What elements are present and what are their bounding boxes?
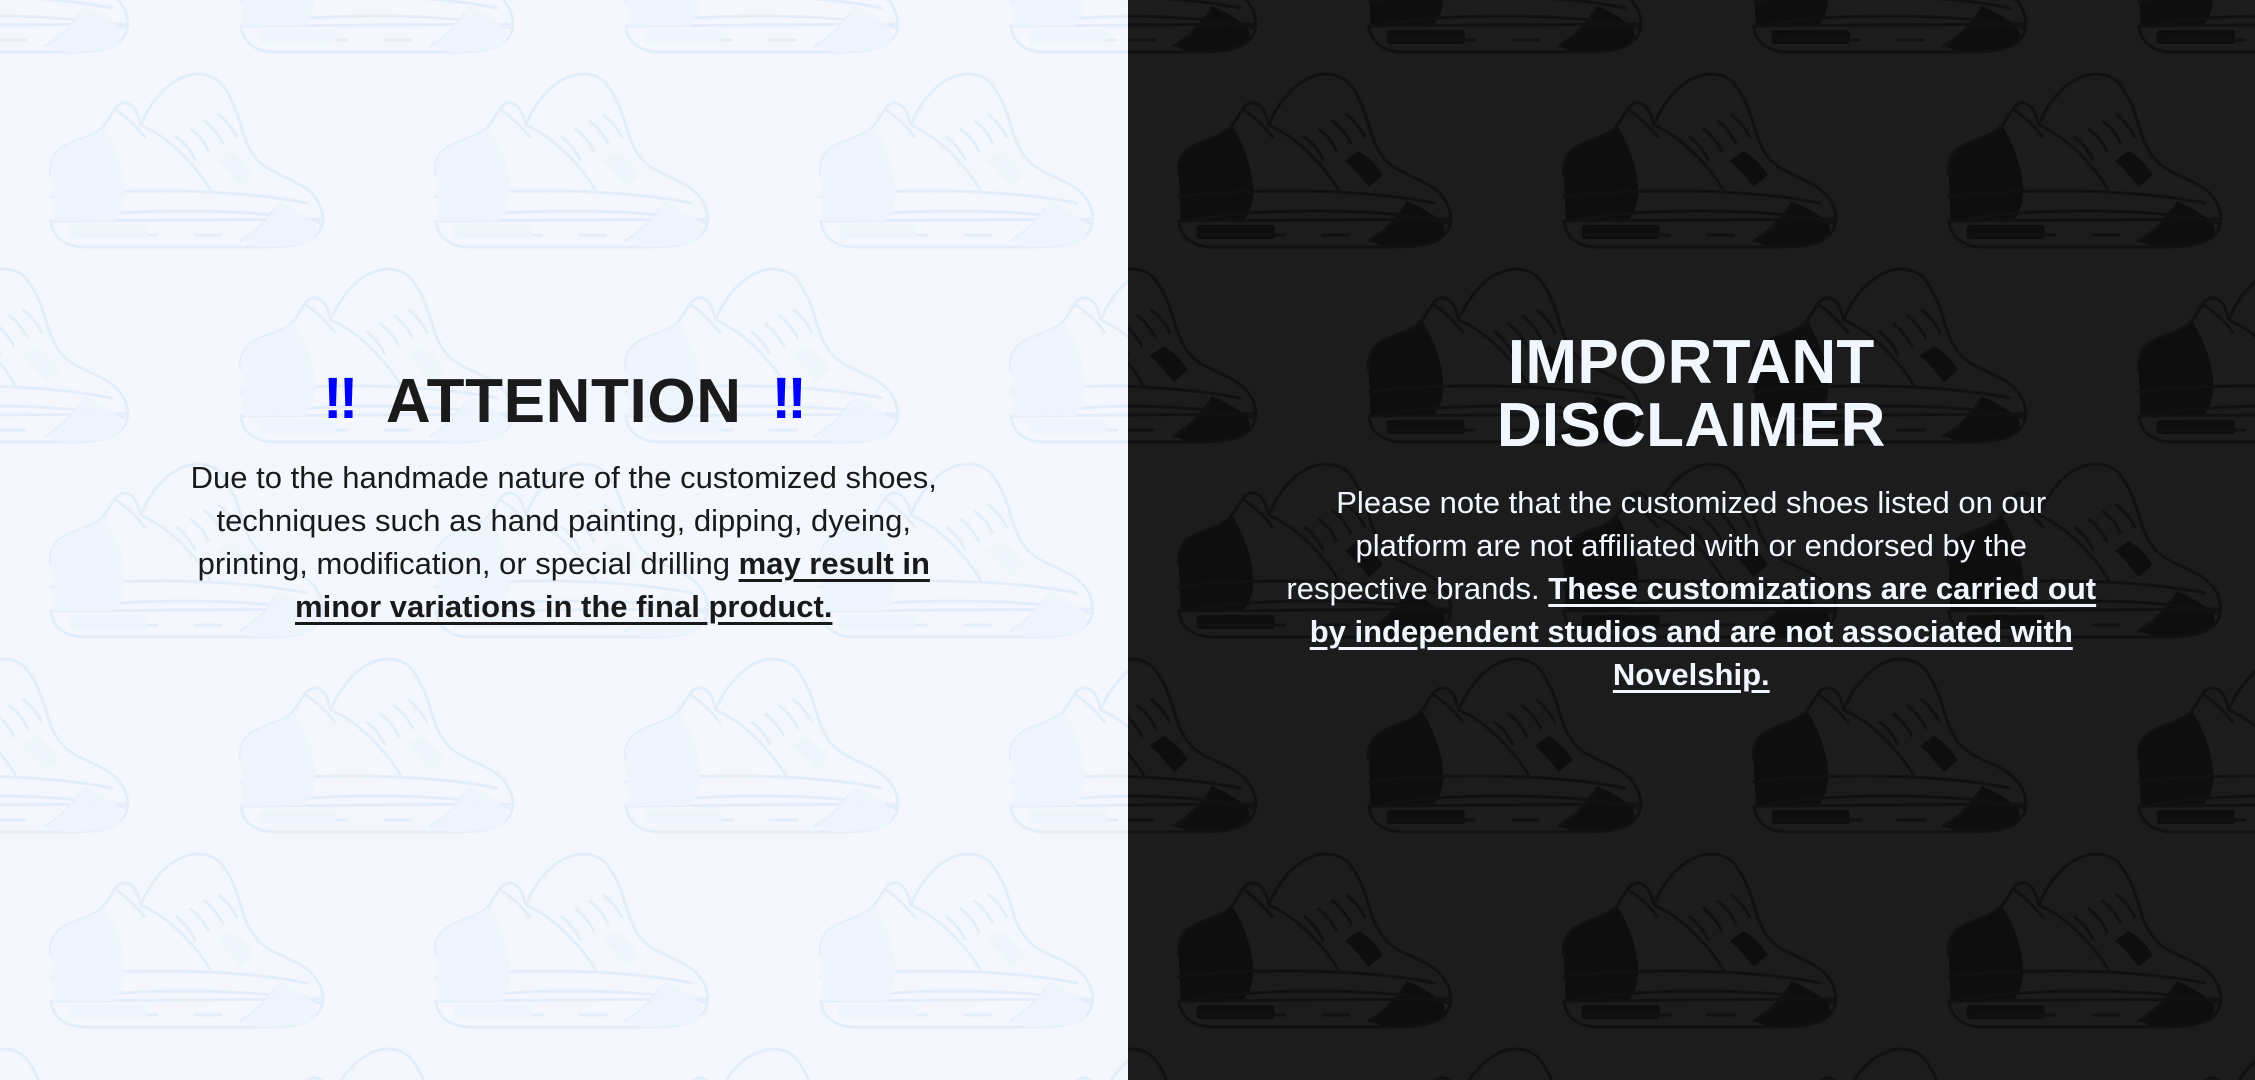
attention-content: ‼ ATTENTION ‼ Due to the handmade nature… xyxy=(0,0,1128,628)
attention-body: Due to the handmade nature of the custom… xyxy=(159,456,969,628)
disclaimer-panel: IMPORTANT DISCLAIMER Please note that th… xyxy=(1128,0,2255,1080)
double-exclamation-left-icon: ‼ xyxy=(323,370,356,428)
attention-heading: ‼ ATTENTION ‼ xyxy=(323,370,804,433)
disclaimer-body: Please note that the customized shoes li… xyxy=(1283,481,2099,696)
disclaimer-heading-line1: IMPORTANT xyxy=(1508,328,1875,397)
attention-panel: ‼ ATTENTION ‼ Due to the handmade nature… xyxy=(0,0,1128,1080)
attention-heading-word: ATTENTION xyxy=(386,370,742,433)
double-exclamation-right-icon: ‼ xyxy=(772,370,805,428)
disclaimer-banner: ‼ ATTENTION ‼ Due to the handmade nature… xyxy=(0,0,2255,1080)
disclaimer-heading-line2: DISCLAIMER xyxy=(1497,391,1886,460)
disclaimer-heading: IMPORTANT DISCLAIMER xyxy=(1497,331,1886,457)
disclaimer-content: IMPORTANT DISCLAIMER Please note that th… xyxy=(1128,0,2255,696)
